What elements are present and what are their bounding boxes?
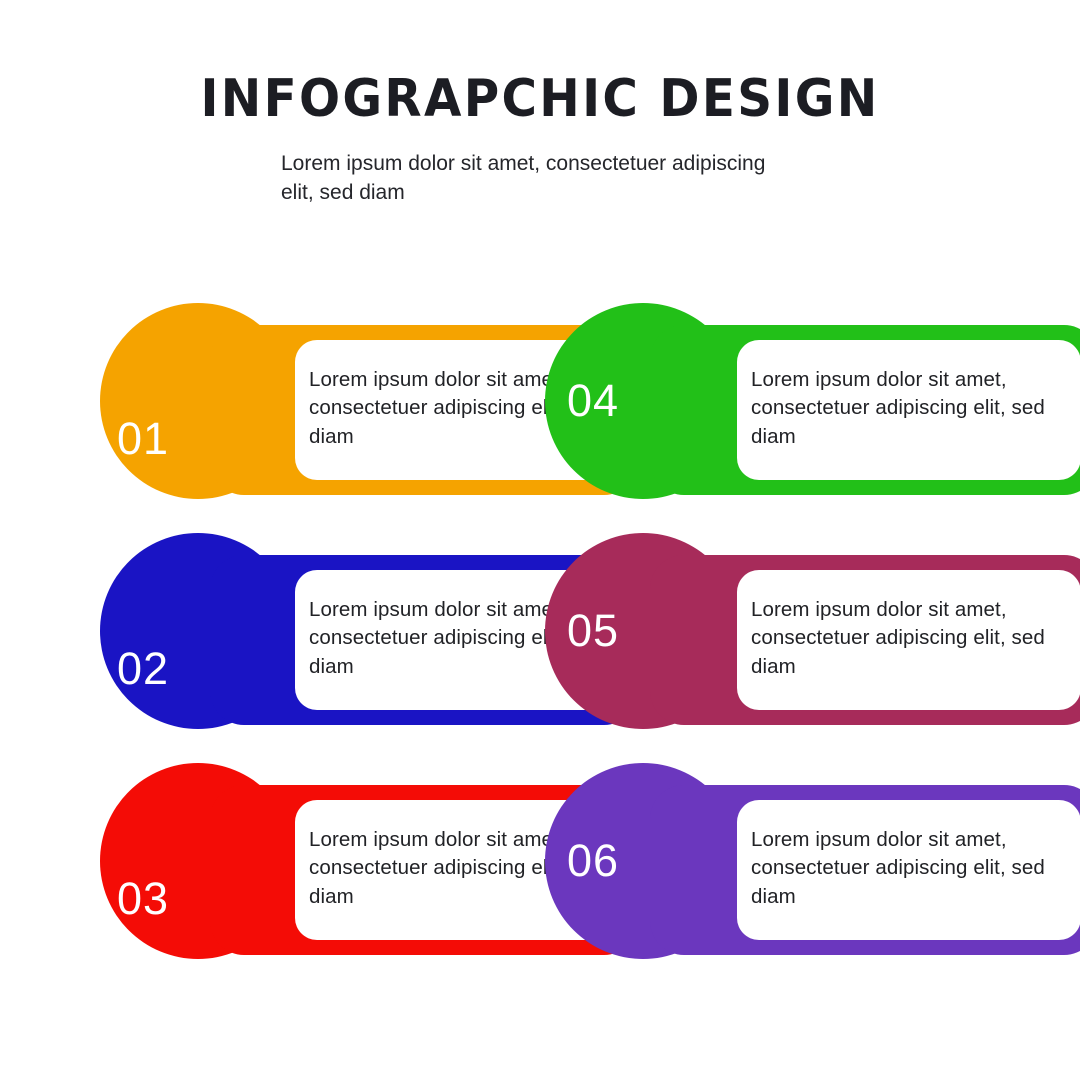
card-number: 05 [567,608,619,653]
page-title: INFOGRAPCHIC DESIGN [38,72,1042,127]
card-number: 03 [117,876,169,921]
page-subtitle: Lorem ipsum dolor sit amet, consectetuer… [281,149,801,209]
card-number: 06 [567,838,619,883]
card-number: 01 [117,416,169,461]
grid-row: Lorem ipsum dolor sit amet, consectetuer… [0,518,1080,748]
infographic-card-01[interactable]: Lorem ipsum dolor sit amet, consectetuer… [95,288,555,498]
card-text: Lorem ipsum dolor sit amet, consectetuer… [751,596,1067,681]
card-panel: Lorem ipsum dolor sit amet, consectetuer… [737,570,1080,710]
infographic-card-05[interactable]: Lorem ipsum dolor sit amet, consectetuer… [555,518,1015,728]
infographic-card-04[interactable]: Lorem ipsum dolor sit amet, consectetuer… [555,288,1015,498]
grid-row: Lorem ipsum dolor sit amet, consectetuer… [0,748,1080,978]
card-text: Lorem ipsum dolor sit amet, consectetuer… [751,366,1067,451]
card-panel: Lorem ipsum dolor sit amet, consectetuer… [737,800,1080,940]
infographic-card-06[interactable]: Lorem ipsum dolor sit amet, consectetuer… [555,748,1015,958]
card-number: 02 [117,646,169,691]
infographic-card-03[interactable]: Lorem ipsum dolor sit amet, consectetuer… [95,748,555,958]
card-panel: Lorem ipsum dolor sit amet, consectetuer… [737,340,1080,480]
infographic-grid: Lorem ipsum dolor sit amet, consectetuer… [0,288,1080,978]
header: INFOGRAPCHIC DESIGN Lorem ipsum dolor si… [0,0,1080,208]
card-text: Lorem ipsum dolor sit amet, consectetuer… [751,826,1067,911]
infographic-card-02[interactable]: Lorem ipsum dolor sit amet, consectetuer… [95,518,555,728]
grid-row: Lorem ipsum dolor sit amet, consectetuer… [0,288,1080,518]
card-number: 04 [567,378,619,423]
